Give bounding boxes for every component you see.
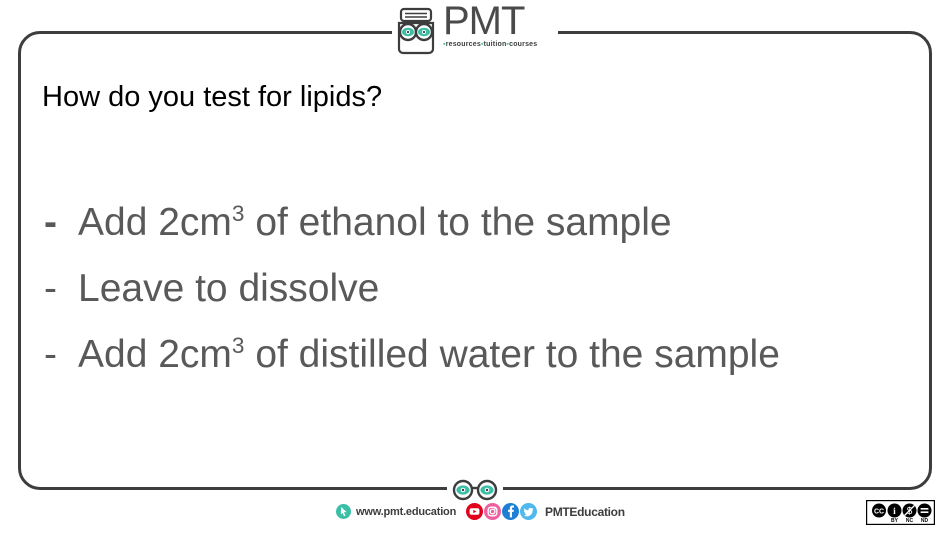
logo-wordmark: PMT — [443, 2, 524, 40]
tagline-part-resources: resources — [446, 41, 481, 48]
bullet-text-after: of distilled water to the sample — [244, 333, 779, 376]
pmt-logo: PMT ▪resources▪tuition▪courses — [390, 2, 562, 62]
bullet-text: Add 2cm3 of ethanol to the sample — [78, 190, 874, 256]
svg-text:i: i — [893, 507, 896, 517]
bullet-marker: - — [44, 322, 78, 388]
social-links: PMTEducation — [466, 503, 625, 520]
list-item: - Add 2cm3 of ethanol to the sample — [44, 190, 874, 256]
logo-text-block: PMT ▪resources▪tuition▪courses — [443, 2, 537, 48]
bullet-text: Add 2cm3 of distilled water to the sampl… — [78, 322, 874, 388]
logo-tagline: ▪resources▪tuition▪courses — [443, 41, 537, 48]
bullet-list: - Add 2cm3 of ethanol to the sample - Le… — [44, 190, 874, 388]
bullet-marker: - — [44, 256, 78, 322]
bullet-superscript: 3 — [232, 333, 245, 358]
bullet-marker: - — [44, 190, 78, 256]
slide-title: How do you test for lipids? — [42, 80, 382, 114]
bullet-text: Leave to dissolve — [78, 256, 874, 322]
twitter-icon[interactable] — [520, 503, 537, 520]
pmt-glasses-icon — [449, 479, 501, 501]
social-handle: PMTEducation — [545, 505, 625, 519]
svg-text:ND: ND — [921, 518, 929, 524]
youtube-icon[interactable] — [466, 503, 483, 520]
creative-commons-by-nc-nd-badge[interactable]: CC i $ BY NC ND — [866, 500, 935, 525]
bullet-text-before: Leave to dissolve — [78, 267, 379, 310]
bullet-superscript: 3 — [232, 201, 245, 226]
cursor-pointer-icon — [336, 504, 351, 519]
bullet-text-before: Add 2cm — [78, 333, 232, 376]
bullet-text-after: of ethanol to the sample — [244, 201, 671, 244]
list-item: - Add 2cm3 of distilled water to the sam… — [44, 322, 874, 388]
website-link[interactable]: www.pmt.education — [336, 504, 456, 519]
svg-text:NC: NC — [906, 518, 914, 524]
pmt-jar-glasses-icon — [390, 5, 442, 57]
list-item: - Leave to dissolve — [44, 256, 874, 322]
tagline-part-courses: courses — [509, 41, 537, 48]
website-label: www.pmt.education — [356, 506, 456, 518]
facebook-icon[interactable] — [502, 503, 519, 520]
footer-bar: www.pmt.education PMTEducation — [0, 500, 950, 535]
svg-text:CC: CC — [874, 509, 884, 516]
instagram-icon[interactable] — [484, 503, 501, 520]
bullet-text-before: Add 2cm — [78, 201, 232, 244]
tagline-part-tuition: tuition — [484, 41, 507, 48]
svg-text:BY: BY — [891, 518, 899, 524]
